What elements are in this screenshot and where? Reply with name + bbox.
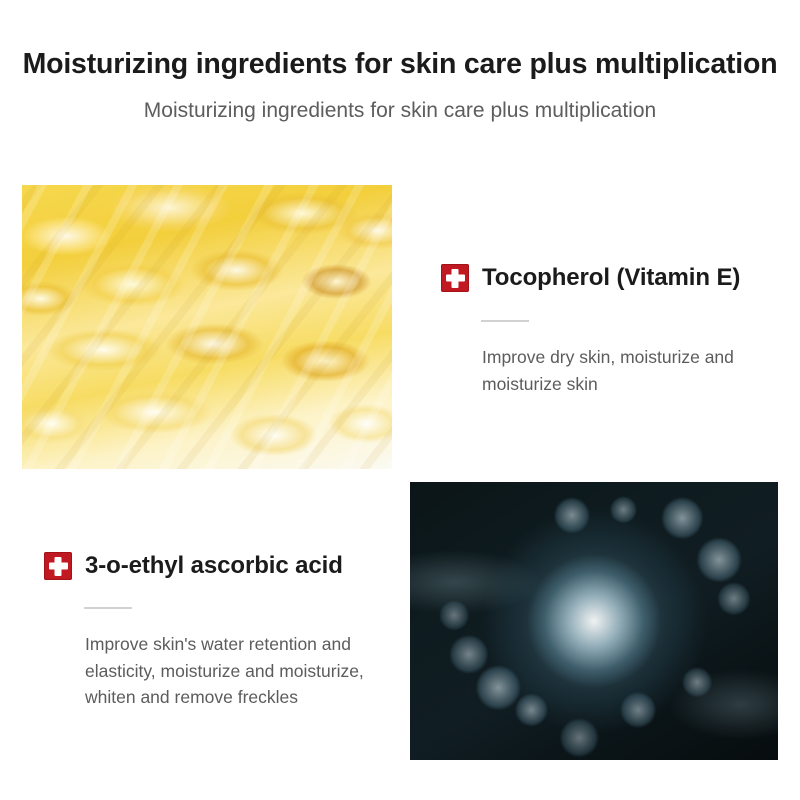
ingredient-block-ascorbic-acid: 3-o-ethyl ascorbic acid Improve skin's w…	[44, 552, 384, 711]
badge-center-dot	[56, 564, 60, 568]
ingredient-title: 3-o-ethyl ascorbic acid	[85, 552, 343, 580]
red-cross-badge-icon	[441, 264, 469, 292]
bubbles-photo	[410, 482, 778, 760]
divider-rule	[84, 607, 132, 609]
divider-rule	[481, 320, 529, 322]
ingredient-heading: 3-o-ethyl ascorbic acid	[44, 552, 384, 580]
ingredient-block-tocopherol: Tocopherol (Vitamin E) Improve dry skin,…	[441, 264, 771, 397]
capsules-photo	[22, 185, 392, 469]
page-title: Moisturizing ingredients for skin care p…	[0, 48, 800, 81]
ingredient-description: Improve skin's water retention and elast…	[85, 631, 370, 711]
ingredient-heading: Tocopherol (Vitamin E)	[441, 264, 771, 292]
badge-center-dot	[453, 276, 457, 280]
page-subtitle: Moisturizing ingredients for skin care p…	[0, 98, 800, 123]
ingredient-title: Tocopherol (Vitamin E)	[482, 264, 740, 292]
red-cross-badge-icon	[44, 552, 72, 580]
ingredient-description: Improve dry skin, moisturize and moistur…	[482, 344, 772, 397]
